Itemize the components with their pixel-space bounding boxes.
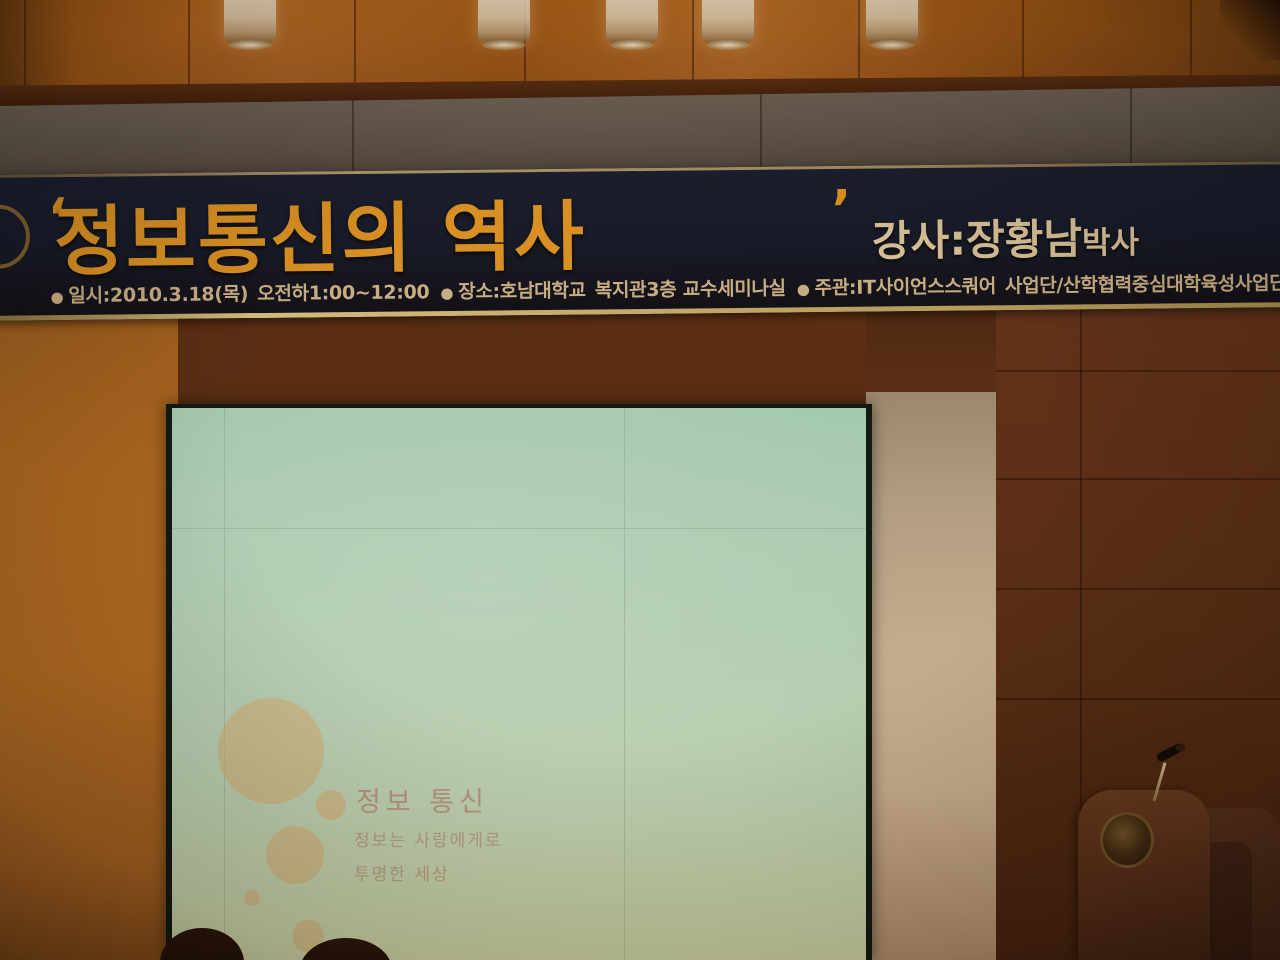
lecture-hall-photo: 정보 통신 정보는 사랑에게로 투명한 세상 ‘ 정보통신의 역사 ’ 강사:장… (0, 0, 1280, 960)
microphone-tip (1176, 744, 1185, 751)
detail-venue-room: 복지관3층 교수세미나실 (595, 277, 795, 301)
lecturer-title-suffix: 박사 (1082, 225, 1139, 262)
pendant-lamp (702, 0, 754, 44)
detail-datetime-time: 오전하1:00~12:00 (257, 281, 438, 305)
bullet-icon: ● (48, 288, 68, 306)
ceiling-corner-shadow (1220, 0, 1280, 60)
detail-host-label: 주관:IT사이언스스쿼어 (814, 275, 1005, 299)
detail-host-org: 사업단/산학협력중심대학육성사업단 (1005, 272, 1280, 297)
projection-screen: 정보 통신 정보는 사랑에게로 투명한 세상 (172, 408, 866, 960)
slide-decor-circle-medium (266, 826, 324, 884)
banner-title: 정보통신의 역사 (53, 175, 586, 291)
detail-venue-label: 장소:호남대학교 (458, 279, 595, 302)
slide-decor-circle-large (218, 698, 324, 804)
lecturer-name: 강사:장황남 (872, 214, 1083, 265)
slide-subtitle-line-1: 정보는 사랑에게로 (354, 826, 503, 851)
lectern-podium (1078, 790, 1210, 960)
bullet-icon: ● (795, 280, 815, 298)
left-lit-wall-panel (0, 316, 178, 960)
event-banner: ‘ 정보통신의 역사 ’ 강사:장황남박사 ●일시:2010.3.18(목)오전… (0, 161, 1280, 321)
slide-subtitle-line-2: 투명한 세상 (354, 860, 450, 885)
banner-lecturer: 강사:장황남박사 (872, 205, 1140, 269)
slide-decor-circle-small (316, 790, 346, 820)
pendant-lamp (606, 0, 658, 44)
podium-emblem (1100, 812, 1154, 868)
slide-decor-circle-tiny (244, 890, 260, 906)
organization-logo-icon (0, 204, 30, 269)
slide-title: 정보 통신 (356, 780, 489, 819)
detail-datetime-label: 일시:2010.3.18(목) (68, 283, 257, 307)
bullet-icon: ● (438, 284, 458, 302)
quote-close-mark: ’ (831, 180, 851, 240)
pendant-lamp (478, 0, 530, 44)
pendant-lamp (224, 0, 276, 44)
right-lit-wall-panel (866, 392, 996, 960)
pendant-lamp (866, 0, 918, 44)
